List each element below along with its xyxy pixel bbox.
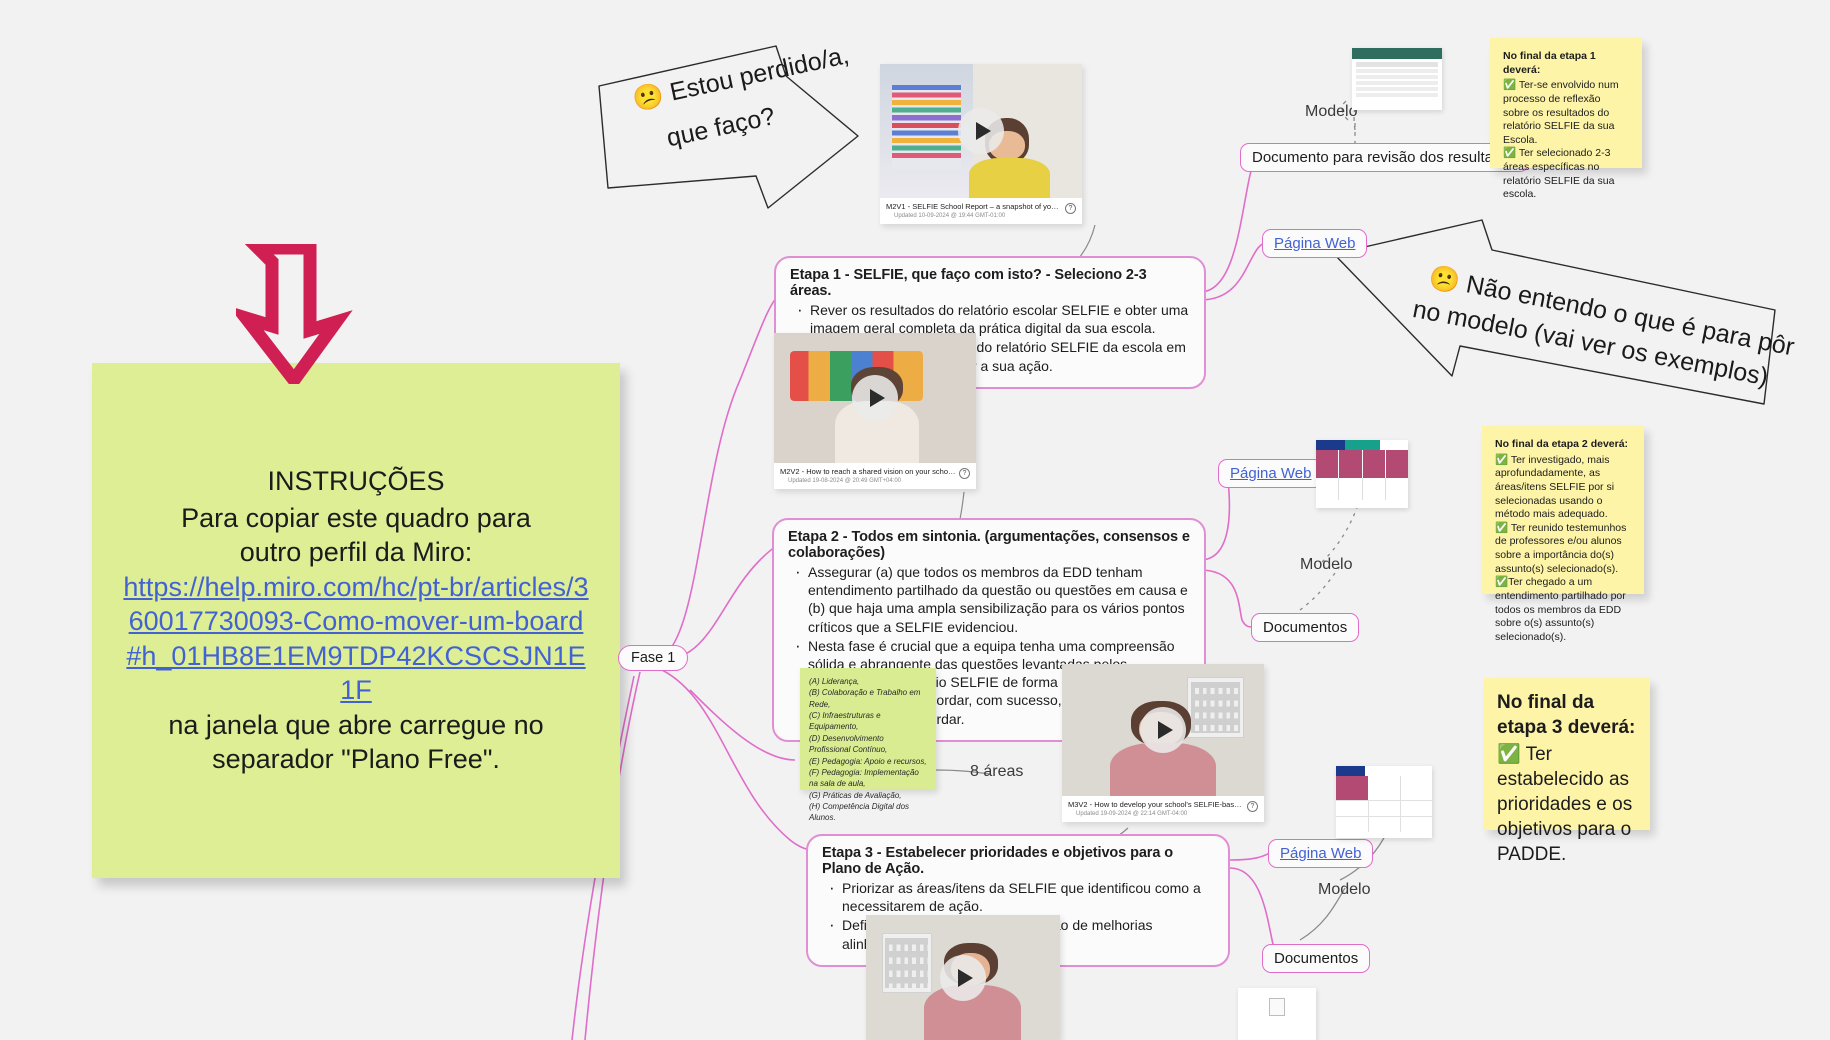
sticky-2-item: ✅Ter chegado a um entendimento partilhad… [1495, 576, 1631, 644]
callout-emoji: 😕 [630, 81, 666, 115]
instructions-line-2: outro perfil da Miro: [240, 537, 473, 567]
areas-note[interactable]: (A) Liderança, (B) Colaboração e Trabalh… [800, 668, 936, 790]
areas-note-list: (A) Liderança, (B) Colaboração e Trabalh… [809, 676, 927, 824]
area-item: (A) Liderança, [809, 676, 927, 687]
video-date: Updated 19-08-2024 @ 20:49 GMT+04:00 [780, 478, 970, 484]
etapa-3-bullet: Priorizar as áreas/itens da SELFIE que i… [822, 879, 1214, 915]
video-thumbnail[interactable] [774, 333, 976, 463]
check-icon: ✅ [1495, 522, 1508, 534]
sticky-1-item: ✅ Ter-se envolvido num processo de refle… [1503, 79, 1629, 147]
sticky-2-item: ✅ Ter investigado, mais aprofundadamente… [1495, 454, 1631, 522]
document-thumbnail-3[interactable] [1336, 766, 1432, 838]
instructions-line-1: Para copiar este quadro para [181, 503, 531, 533]
label-8-areas: 8 áreas [970, 763, 1023, 781]
area-item: (G) Práticas de Avaliação, [809, 790, 927, 801]
check-icon: ✅ [1495, 454, 1508, 466]
video-card-m2v1[interactable]: M2V1 - SELFIE School Report – a snapshot… [880, 64, 1082, 224]
label-modelo-3: Modelo [1318, 881, 1370, 899]
sticky-note-etapa-1[interactable]: No final da etapa 1 deverá: ✅ Ter-se env… [1490, 38, 1642, 168]
instructions-line-3: na janela que abre carregue no [168, 710, 543, 740]
video-card-m3v2[interactable]: M3V2 - How to develop your school's SELF… [1062, 664, 1264, 822]
video-card-bottom[interactable] [866, 915, 1060, 1040]
etapa-2-heading: Etapa 2 - Todos em sintonia. (argumentaç… [788, 529, 1190, 561]
etapa-2-bullet: Assegurar (a) que todos os membros da ED… [788, 563, 1190, 636]
label-pagina-web-3[interactable]: Página Web [1268, 839, 1373, 868]
help-icon[interactable]: ? [1247, 801, 1258, 812]
area-item: (B) Colaboração e Trabalho em Rede, [809, 687, 927, 710]
video-date: Updated 10-09-2024 @ 19:44 GMT-01:00 [886, 213, 1076, 219]
sticky-3-item: ✅ Ter estabelecido as prioridades e os o… [1497, 742, 1637, 867]
node-fase-1-label: Fase 1 [631, 650, 675, 666]
check-icon: ✅ [1495, 576, 1508, 588]
video-title: M3V2 - How to develop your school's SELF… [1068, 800, 1258, 809]
document-thumbnail-2[interactable] [1316, 440, 1408, 508]
video-caption: M2V2 - How to reach a shared vision on y… [774, 463, 976, 489]
check-icon: ✅ [1497, 744, 1521, 765]
node-fase-1[interactable]: Fase 1 [618, 645, 688, 671]
callout-estou-perdido[interactable]: 😕 Estou perdido/a, que faço? [596, 40, 864, 212]
play-button-icon[interactable] [852, 375, 898, 421]
etapa-3-heading: Etapa 3 - Estabelecer prioridades e obje… [822, 845, 1214, 877]
sticky-note-etapa-2[interactable]: No final da etapa 2 deverá: ✅ Ter invest… [1482, 426, 1644, 594]
play-button-icon[interactable] [1140, 707, 1186, 753]
area-item: (H) Competência Digital dos Alunos. [809, 801, 927, 824]
instructions-title: INSTRUÇÕES [122, 464, 590, 499]
miro-help-link[interactable]: https://help.miro.com/hc/pt-br/articles/… [122, 570, 590, 708]
label-documentos-1[interactable]: Documentos [1251, 613, 1359, 642]
video-card-m2v2[interactable]: M2V2 - How to reach a shared vision on y… [774, 333, 976, 489]
etapa-1-heading: Etapa 1 - SELFIE, que faço com isto? - S… [790, 267, 1190, 299]
sticky-2-item: ✅ Ter reunido testemunhos de professores… [1495, 522, 1631, 577]
help-icon[interactable]: ? [959, 468, 970, 479]
callout-nao-entendo[interactable]: 😕 Não entendo o que é para pôr no modelo… [1332, 218, 1778, 406]
document-thumbnail-1[interactable] [1352, 48, 1442, 110]
label-pagina-web-1[interactable]: Página Web [1262, 229, 1367, 258]
video-thumbnail[interactable] [1062, 664, 1264, 796]
sticky-1-heading: No final da etapa 1 deverá: [1503, 50, 1629, 77]
callout-emoji: 😕 [1426, 263, 1462, 296]
down-arrow-icon [236, 244, 356, 384]
video-caption: M3V2 - How to develop your school's SELF… [1062, 796, 1264, 822]
area-item: (E) Pedagogia: Apoio e recursos, [809, 756, 927, 767]
miro-board-canvas[interactable]: INSTRUÇÕES Para copiar este quadro para … [0, 0, 1830, 1040]
sticky-1-item: ✅ Ter selecionado 2-3 áreas específicas … [1503, 147, 1629, 202]
area-item: (F) Pedagogia: Implementação na sala de … [809, 767, 927, 790]
document-thumbnail-4[interactable] [1238, 988, 1316, 1040]
label-modelo-1: Modelo [1305, 103, 1357, 121]
area-item: (D) Desenvolvimento Profissional Contínu… [809, 733, 927, 756]
help-icon[interactable]: ? [1065, 203, 1076, 214]
sticky-note-etapa-3[interactable]: No final da etapa 3 deverá: ✅ Ter estabe… [1484, 678, 1650, 830]
video-title: M2V2 - How to reach a shared vision on y… [780, 467, 970, 476]
label-documento-revisao[interactable]: Documento para revisão dos resultados [1240, 143, 1529, 172]
play-button-icon[interactable] [958, 108, 1004, 154]
video-thumbnail[interactable] [880, 64, 1082, 198]
video-caption: M2V1 - SELFIE School Report – a snapshot… [880, 198, 1082, 224]
sticky-2-heading: No final da etapa 2 deverá: [1495, 438, 1631, 452]
area-item: (C) Infraestruturas e Equipamento, [809, 710, 927, 733]
label-pagina-web-2[interactable]: Página Web [1218, 459, 1323, 488]
label-documentos-2[interactable]: Documentos [1262, 944, 1370, 973]
label-modelo-2: Modelo [1300, 556, 1352, 574]
instructions-line-4: separador "Plano Free". [212, 744, 500, 774]
check-icon: ✅ [1503, 79, 1516, 91]
video-date: Updated 19-09-2024 @ 22:14 GMT-04:00 [1068, 811, 1258, 817]
etapa-1-bullet: Rever os resultados do relatório escolar… [790, 301, 1190, 337]
check-icon: ✅ [1503, 147, 1516, 159]
play-button-icon[interactable] [940, 955, 986, 1001]
video-title: M2V1 - SELFIE School Report – a snapshot… [886, 202, 1076, 211]
video-thumbnail[interactable] [866, 915, 1060, 1040]
sticky-3-heading: No final da etapa 3 deverá: [1497, 690, 1637, 740]
instructions-sticky-card[interactable]: INSTRUÇÕES Para copiar este quadro para … [92, 363, 620, 878]
